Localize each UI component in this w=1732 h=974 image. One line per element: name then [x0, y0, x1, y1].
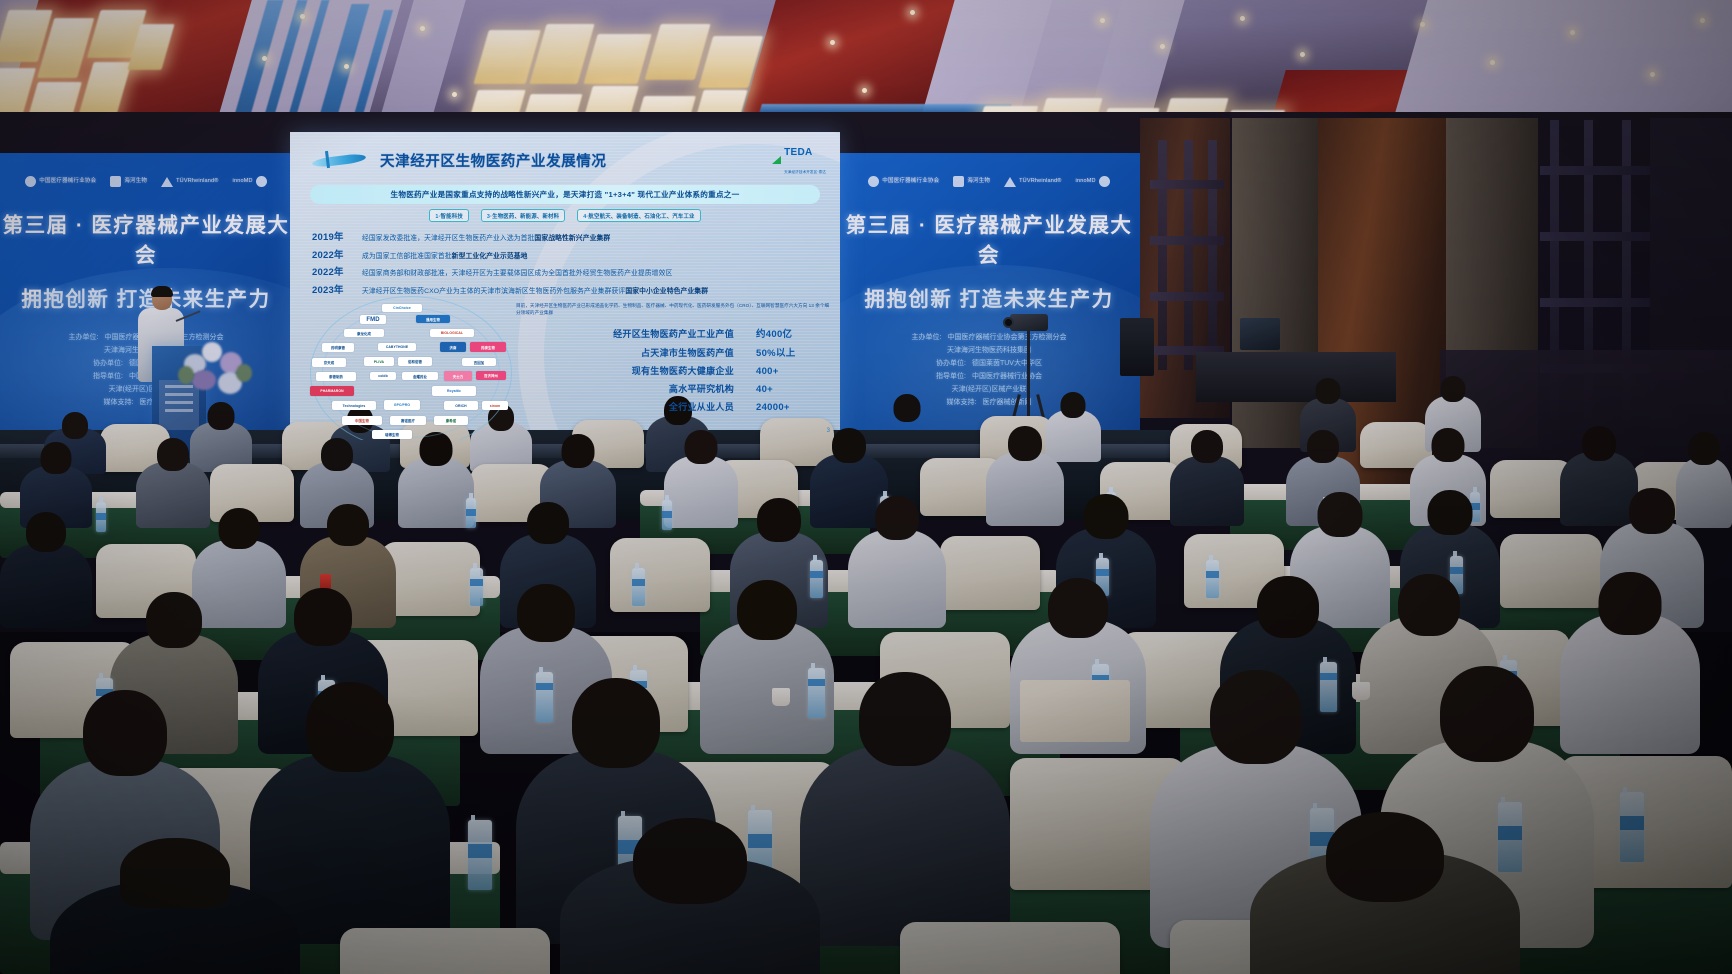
logo-chip: BIOLOGICAL: [430, 329, 474, 337]
logo-chip: 中国生物: [342, 416, 382, 425]
audience-member-foreground: [50, 842, 300, 974]
timeline-highlight: 国家战略性新兴产业集群: [534, 235, 610, 242]
person-head: [1441, 376, 1466, 402]
banner-title-line1: 第三届 · 医疗器械产业发展大会: [838, 208, 1140, 268]
person-head: [26, 512, 66, 552]
person-head: [157, 438, 189, 471]
slide-stats-panel: 目前，天津经开区生物医药产业已形成涵盖化学药、生物制品、医疗器械、中药现代化、医…: [512, 302, 840, 440]
ballroom-ceiling: [0, 0, 1732, 128]
stat-label: 经开区生物医药产业工业产值: [516, 327, 756, 340]
person-head: [41, 442, 72, 474]
audience-member-foreground: [800, 672, 1010, 946]
person-head: [208, 402, 235, 430]
logo-tuv: TÜVRheinland®: [1004, 175, 1061, 188]
logo-chip: 吉因加: [462, 358, 496, 366]
person-head: [875, 496, 919, 540]
logo-chip: 药明康德: [322, 343, 354, 352]
camera-lens-icon: [1003, 317, 1014, 328]
logo-chip: 京天成: [312, 358, 346, 367]
slide-body: CinChoice FMD 通用生物 康龙化成 BIOLOGICAL 药明康德 …: [290, 302, 840, 440]
person-head: [859, 672, 951, 766]
stat-value: 400+: [756, 366, 830, 377]
timeline-year: 2022年: [312, 264, 354, 278]
slide-title: 天津经开区生物医药产业发展情况: [380, 150, 607, 171]
audience-member: [398, 432, 474, 528]
logo-haihe: 海河生物: [953, 175, 990, 188]
industry-tag-row: 1·智能科技 3·生物医药、新能源、新材料 4·航空航天、装备制造、石油化工、汽…: [290, 209, 840, 222]
logo-chip: GPC/PRO: [384, 400, 420, 410]
stat-row: 现有生物医药大健康企业 400+: [516, 364, 830, 377]
banner-title-line1: 第三届 · 医疗器械产业发展大会: [0, 208, 292, 268]
flower-arrangement: [178, 336, 252, 398]
stat-row: 占天津市生物医药产值 50%以上: [516, 345, 830, 359]
person-body: [664, 456, 738, 528]
company-logo-cloud: CinChoice FMD 通用生物 康龙化成 BIOLOGICAL 药明康德 …: [304, 302, 512, 440]
person-head: [517, 584, 575, 642]
person-head: [1326, 812, 1444, 902]
timeline-text: 天津经开区生物医药CXO产业为主体的天津市滨海新区生物医药外包服务产业集群获评国…: [362, 288, 708, 296]
teda-logo-text: TEDA: [784, 147, 812, 158]
milestone-timeline: 2019年 经国家发改委批准，天津经开区生物医药产业入选为首批国家战略性新兴产业…: [312, 229, 840, 296]
water-bottle: [466, 498, 476, 528]
timeline-year: 2022年: [312, 247, 354, 261]
person-head: [321, 438, 353, 471]
timeline-text: 经国家发改委批准，天津经开区生物医药产业入选为首批国家战略性新兴产业集群: [362, 235, 610, 243]
person-head: [219, 508, 260, 549]
person-head: [1084, 494, 1129, 539]
stat-label: 现有生物医药大健康企业: [516, 364, 756, 377]
logo-chip: 康龙化成: [344, 329, 384, 337]
logo-label: TÜVRheinland®: [176, 178, 218, 184]
person-head: [1048, 578, 1108, 638]
logo-label: 中国医疗器械行业协会: [39, 178, 96, 184]
tuv-mark-icon: [1004, 177, 1016, 187]
audience-member: [848, 496, 946, 628]
slide-subtitle: 生物医药产业是国家重点支持的战略性新兴产业，是天津打造 "1+3+4" 现代工业…: [310, 185, 820, 204]
timeline-year: 2023年: [312, 282, 354, 296]
logo-chip: 泰德制药: [316, 372, 356, 381]
stat-label: 占天津市生物医药产值: [516, 346, 756, 359]
tag-text: 航空航天、装备制造、石油化工、汽车工业: [588, 214, 694, 220]
person-head: [1599, 572, 1662, 635]
audience-member-foreground: [560, 818, 820, 974]
stage-monitor: [1240, 318, 1280, 350]
logo-haihe: 海河生物: [110, 175, 147, 188]
pa-speaker-box: [1120, 318, 1154, 376]
person-head: [1316, 378, 1341, 404]
timeline-desc: 天津经开区生物医药CXO产业为主体的天津市滨海新区生物医药外包服务产业集群获评: [362, 288, 625, 295]
stat-row: 全行业从业人员 24000+: [516, 400, 830, 413]
person-head: [1257, 576, 1319, 638]
person-head: [1307, 430, 1339, 463]
person-body: [848, 530, 946, 628]
water-bottle: [96, 502, 106, 532]
chair: [340, 928, 550, 974]
cmdia-mark-icon: [868, 176, 879, 187]
stat-value: 24000+: [756, 402, 830, 413]
person-head: [327, 504, 369, 546]
stat-label: 全行业从业人员: [516, 400, 756, 413]
logo-tuv: TÜVRheinland®: [161, 175, 218, 188]
cluster-note: 目前，天津经开区生物医药产业已形成涵盖化学药、生物制品、医疗器械、中药现代化、医…: [516, 302, 830, 316]
stat-value: 约400亿: [756, 326, 830, 340]
water-bottle: [1206, 560, 1219, 598]
banner-title-line2: 拥抱创新 打造未来生产力: [838, 282, 1140, 312]
logo-chip: 康希诺: [434, 416, 468, 425]
logo-chip: sinom: [482, 401, 508, 410]
person-body: [398, 458, 474, 528]
slide-header: 天津经开区生物医药产业发展情况 TEDA 天津经济技术开发区·泰达: [290, 132, 840, 178]
person-head: [294, 588, 352, 646]
organizer-label: 指导单位:: [936, 371, 966, 384]
logo-chip: 金耀药业: [402, 372, 438, 380]
logo-label: TÜVRheinland®: [1019, 178, 1061, 184]
haihe-mark-icon: [953, 176, 964, 187]
organizer-label: 协办单位:: [93, 358, 123, 371]
teda-mark-icon: [772, 156, 781, 164]
timeline-desc: 经国家发改委批准，天津经开区生物医药产业入选为首批: [362, 235, 534, 242]
person-body: [1170, 456, 1244, 526]
timeline-row: 2022年 成为国家工信部批准国家首批新型工业化产业示范基地: [312, 247, 840, 261]
logo-chip: PLIVA: [364, 357, 394, 366]
timeline-highlight: 新型工业化产业示范基地: [452, 253, 528, 260]
logo-label: innoMD: [1076, 178, 1096, 184]
person-head: [146, 592, 202, 648]
innomd-mark-icon: [256, 176, 267, 187]
person-head: [1398, 574, 1460, 636]
logo-label: 海河生物: [967, 178, 990, 184]
person-head: [306, 682, 394, 772]
coffee-cup: [772, 688, 790, 706]
person-head: [572, 678, 660, 768]
tuv-mark-icon: [161, 177, 173, 187]
chair: [610, 538, 710, 612]
timeline-highlight: 国家中小企业特色产业集群: [625, 288, 708, 295]
tag-number: 1: [435, 214, 438, 220]
audience-member: [986, 426, 1064, 526]
logo-chip: ORICH: [444, 401, 478, 410]
audience-member: [0, 512, 92, 628]
haihe-mark-icon: [110, 176, 121, 187]
stat-row: 经开区生物医药产业工业产值 约400亿: [516, 326, 830, 340]
statistics-table: 经开区生物医药产业工业产值 约400亿 占天津市生物医药产值 50%以上 现有生…: [516, 326, 830, 413]
person-body: [800, 746, 1010, 946]
logo-chip: 百济神州: [476, 371, 506, 380]
presentation-slide: 天津经开区生物医药产业发展情况 TEDA 天津经济技术开发区·泰达 生物医药产业…: [290, 132, 840, 440]
industry-tag: 1·智能科技: [429, 209, 469, 222]
organizer-row: 协办单位: 德国莱茵TUV大中华区: [864, 358, 1114, 371]
swoosh-decoration-icon: [308, 150, 370, 170]
logo-label: 海河生物: [124, 178, 147, 184]
teda-logo-subtext: 天津经济技术开发区·泰达: [784, 170, 826, 174]
person-head: [120, 838, 230, 908]
person-head: [1428, 490, 1473, 535]
logo-chip: 通用生物: [416, 315, 450, 323]
speaker-hair: [151, 286, 173, 297]
organizer-row: 天津海河生物医药科技集团: [864, 345, 1114, 358]
logo-chip: 赛诺医疗: [390, 416, 426, 425]
logo-chip: 天士力: [444, 371, 472, 381]
sponsor-logo-strip-right: 中国医疗器械行业协会 海河生物 TÜVRheinland® innoMD: [838, 153, 1140, 188]
tote-bag: [1020, 680, 1130, 742]
timeline-row: 2019年 经国家发改委批准，天津经开区生物医药产业入选为首批国家战略性新兴产业…: [312, 229, 840, 243]
person-body: [986, 452, 1064, 526]
water-bottle: [632, 568, 645, 606]
logo-chip: CinChoice: [382, 304, 422, 312]
timeline-text: 成为国家工信部批准国家首批新型工业化产业示范基地: [362, 253, 528, 261]
person-head: [1432, 428, 1465, 462]
audience-member: [664, 430, 738, 528]
logo-label: innoMD: [233, 178, 253, 184]
audience-member-foreground: [1250, 812, 1520, 974]
timeline-desc: 经国家商务部和财政部批准，天津经开区为主要载体园区成为全国首批外经贸生物医药产业…: [362, 270, 672, 277]
timeline-text: 经国家商务部和财政部批准，天津经开区为主要载体园区成为全国首批外经贸生物医药产业…: [362, 270, 672, 278]
person-head: [757, 498, 801, 542]
organizer-label: 主办单位:: [69, 332, 99, 345]
person-head: [894, 394, 921, 422]
timeline-row: 2023年 天津经开区生物医药CXO产业为主体的天津市滨海新区生物医药外包服务产…: [312, 282, 840, 296]
water-bottle: [468, 820, 492, 890]
teda-logo: TEDA 天津经济技术开发区·泰达: [772, 142, 826, 178]
organizer-label: 协办单位:: [936, 358, 966, 371]
organizer-row: 指导单位: 中国医疗器械行业协会: [864, 371, 1114, 384]
person-head: [1688, 432, 1720, 465]
stat-value: 50%以上: [756, 345, 830, 359]
logo-label: 中国医疗器械行业协会: [882, 178, 939, 184]
person-head: [62, 412, 88, 439]
person-head: [1210, 670, 1302, 764]
person-head: [1629, 488, 1675, 534]
logo-chip: FMD: [360, 315, 386, 324]
person-body: [0, 544, 92, 628]
logo-chip: coldb: [370, 372, 396, 380]
organizer-label: 指导单位:: [93, 371, 123, 384]
timeline-desc: 成为国家工信部批准国家首批: [362, 253, 452, 260]
logo-chip: Royaltic: [432, 386, 476, 396]
water-bottle: [662, 500, 672, 530]
chair: [900, 922, 1120, 974]
lattice-screen-left: [1150, 140, 1224, 370]
person-head: [1191, 430, 1223, 463]
water-bottle: [1620, 792, 1644, 862]
tag-number: 3: [487, 214, 490, 220]
conference-hall-photo: 中国医疗器械行业协会 海河生物 TÜVRheinland® innoMD 第三届…: [0, 0, 1732, 974]
industry-tag: 4·航空航天、装备制造、石油化工、汽车工业: [577, 209, 700, 222]
tag-text: 生物医药、新能源、新材料: [492, 214, 559, 220]
cmdia-mark-icon: [25, 176, 36, 187]
logo-chip: 诺和诺德: [398, 357, 432, 366]
person-head: [1008, 426, 1042, 461]
tag-text: 智能科技: [441, 214, 463, 220]
person-head: [1582, 426, 1616, 461]
organizer-label: 主办单位:: [912, 332, 942, 345]
person-head: [527, 502, 569, 544]
audience-member: [1170, 430, 1244, 526]
stat-label: 高水平研究机构: [516, 382, 756, 395]
person-head: [737, 580, 797, 640]
innomd-mark-icon: [1099, 176, 1110, 187]
logo-innomd: innoMD: [233, 175, 267, 188]
stat-row: 高水平研究机构 40+: [516, 382, 830, 395]
logo-chip: PHARMARON: [310, 386, 354, 396]
person-head: [1440, 666, 1534, 762]
person-head: [1318, 492, 1363, 537]
person-head: [1061, 392, 1086, 418]
logo-chip: 瑞博生物: [372, 430, 412, 439]
audience-area: [0, 392, 1732, 974]
logo-cmdia: 中国医疗器械行业协会: [25, 175, 96, 188]
logo-chip: Technologies: [332, 401, 376, 410]
person-head: [83, 690, 167, 776]
organizer-row: 主办单位: 中国医疗器械行业协会第三方检测分会: [864, 332, 1114, 345]
sponsor-logo-strip-left: 中国医疗器械行业协会 海河生物 TÜVRheinland® innoMD: [0, 153, 292, 188]
logo-chip: 济南: [440, 342, 466, 352]
logo-cmdia: 中国医疗器械行业协会: [868, 175, 939, 188]
logo-chip: 药康生物: [470, 342, 506, 352]
logo-innomd: innoMD: [1076, 175, 1110, 188]
person-head: [633, 818, 747, 904]
camera-body-icon: [1010, 314, 1048, 331]
timeline-year: 2019年: [312, 229, 354, 243]
stat-value: 40+: [756, 384, 830, 395]
logo-chip: CABYTHONE: [378, 343, 416, 351]
tag-number: 4: [583, 214, 586, 220]
slide-page-number: 3: [827, 428, 830, 434]
industry-tag: 3·生物医药、新能源、新材料: [481, 209, 565, 222]
timeline-row: 2022年 经国家商务部和财政部批准，天津经开区为主要载体园区成为全国首批外经贸…: [312, 264, 840, 278]
